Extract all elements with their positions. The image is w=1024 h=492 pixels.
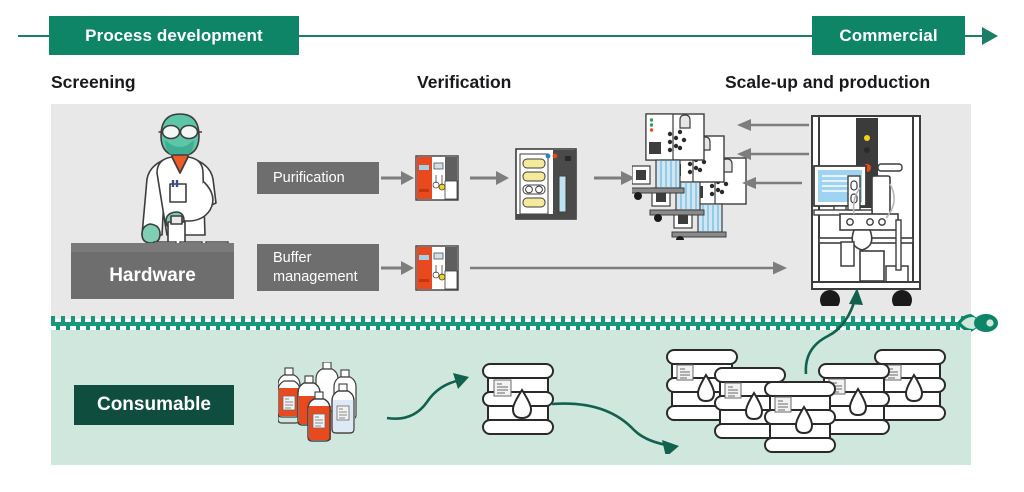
stage-caption-scale-up: Scale-up and production — [725, 72, 930, 93]
arrow-right-icon — [982, 27, 998, 45]
curved-arrow-right-icon — [550, 398, 690, 454]
phase-commercial[interactable]: Commercial — [812, 16, 965, 55]
workflow-diagram: Process development Commercial Screening… — [0, 0, 1024, 492]
process-label-text: Buffer management — [273, 249, 358, 285]
process-label-text: Purification — [273, 169, 345, 187]
arrow-right-icon — [381, 170, 415, 186]
arrow-right-icon — [470, 170, 510, 186]
arrow-right-icon — [381, 260, 415, 276]
process-label-purification[interactable]: Purification — [257, 162, 379, 194]
phase-label: Process development — [85, 26, 263, 46]
hardware-row-label: Hardware — [71, 252, 234, 299]
benchtop-buffer-system-icon — [415, 245, 459, 291]
phase-label: Commercial — [839, 26, 937, 46]
consumable-row-label: Consumable — [74, 385, 234, 425]
arrow-right-icon — [594, 170, 636, 186]
stage-caption-screening: Screening — [51, 72, 136, 93]
curved-arrow-up-icon — [800, 288, 870, 376]
consumable-drum-icon — [482, 362, 554, 440]
verification-chromatography-system-icon — [515, 148, 577, 220]
arrow-right-icon — [470, 260, 790, 276]
arrow-left-icon — [735, 118, 809, 132]
curved-arrow-right-icon — [385, 370, 471, 426]
stage-caption-verification: Verification — [417, 72, 511, 93]
reagent-bottle-cluster-icon — [278, 362, 374, 444]
arrow-left-icon — [740, 176, 802, 190]
consumable-row-label-text: Consumable — [97, 394, 211, 416]
benchtop-purification-system-icon — [415, 155, 459, 201]
scientist-pipetting-icon — [118, 108, 243, 256]
process-label-buffer-management[interactable]: Buffer management — [257, 244, 379, 291]
arrow-left-icon — [735, 147, 809, 161]
phase-process-development[interactable]: Process development — [49, 16, 299, 55]
hardware-row-label-text: Hardware — [109, 264, 196, 288]
production-skid-icon — [808, 114, 924, 306]
